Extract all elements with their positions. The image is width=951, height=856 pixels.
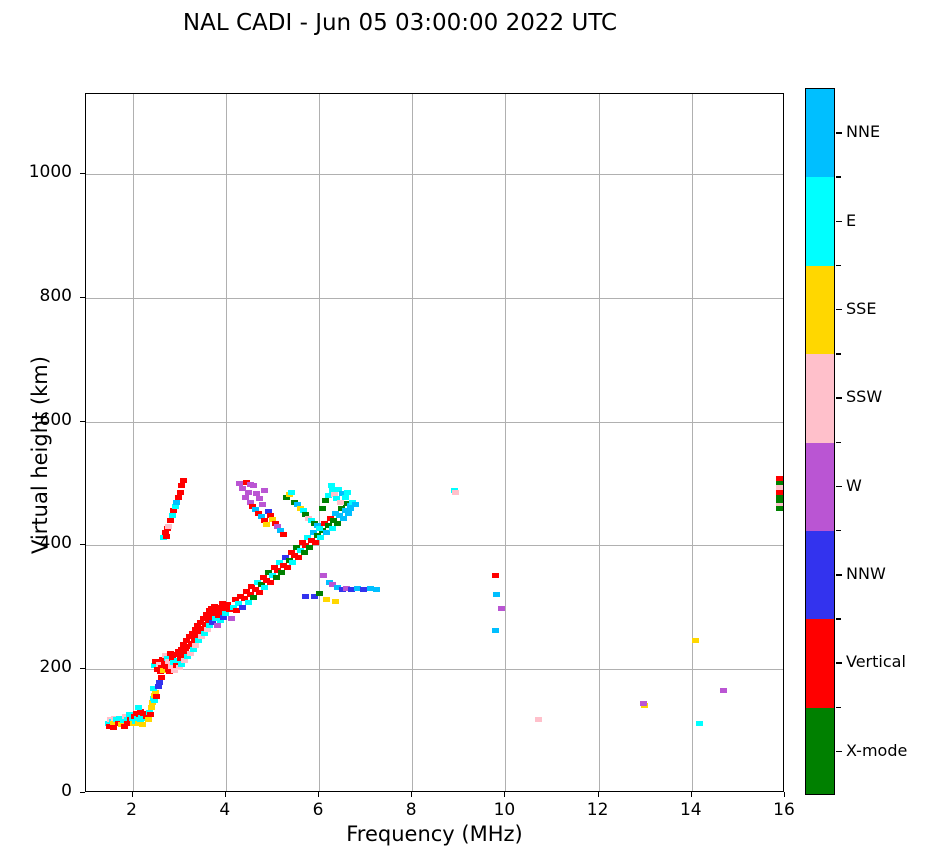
colorbar-separator-tick [836,442,841,444]
data-point [352,502,359,507]
data-point [288,490,295,495]
y-tick [80,668,85,669]
gridline-vertical [226,94,227,791]
y-tick-label: 200 [0,657,72,677]
data-point [267,580,274,585]
data-point [342,495,349,500]
data-point [261,585,268,590]
data-point [284,565,291,570]
data-point [156,680,163,685]
colorbar-tick [836,574,842,576]
colorbar-tick [836,751,842,753]
y-tick [80,173,85,174]
data-point [263,522,270,527]
data-point [320,573,327,578]
data-point [322,498,329,503]
colorbar-segment-nnw [806,531,834,619]
data-point [492,573,499,578]
gridline-horizontal [86,174,783,175]
gridline-vertical [319,94,320,791]
x-tick-label: 6 [288,800,348,820]
colorbar-label-vertical: Vertical [846,652,906,671]
colorbar-tick [836,397,842,399]
data-point [289,560,296,565]
colorbar-segment-e [806,177,834,265]
data-point [696,721,703,726]
data-point [319,506,326,511]
data-point [344,490,351,495]
x-tick [691,792,692,797]
data-point [323,597,330,602]
x-tick-label: 8 [381,800,441,820]
data-point [306,545,313,550]
x-tick-label: 2 [102,800,162,820]
data-point [312,540,319,545]
gridline-horizontal [86,298,783,299]
gridline-vertical [599,94,600,791]
data-point [692,638,699,643]
data-point [167,518,174,523]
colorbar-segment-x-mode [806,708,834,795]
data-point [640,701,647,706]
data-point [261,488,268,493]
x-tick [504,792,505,797]
colorbar-tick [836,486,842,488]
colorbar-tick [836,662,842,664]
colorbar-tick [836,221,842,223]
colorbar-segment-ssw [806,354,834,442]
x-tick-label: 16 [754,800,814,820]
colorbar-segment-sse [806,266,834,354]
data-point [334,521,341,526]
data-point [158,675,165,680]
x-tick-label: 12 [568,800,628,820]
data-point [259,502,266,507]
data-point [147,712,154,717]
data-point [169,513,176,518]
data-point [373,587,380,592]
data-point [273,575,280,580]
data-point [110,725,117,730]
x-axis-label: Frequency (MHz) [85,822,784,846]
data-point [316,591,323,596]
data-point [239,605,246,610]
y-tick [80,421,85,422]
data-point [256,590,263,595]
data-point [498,606,505,611]
data-point [148,705,155,710]
data-point [178,483,185,488]
data-point [493,592,500,597]
data-point [323,530,330,535]
page-title: NAL CADI - Jun 05 03:00:00 2022 UTC [0,10,800,36]
gridline-horizontal [86,545,783,546]
colorbar [805,88,835,795]
colorbar-separator-tick [836,265,841,267]
colorbar-label-e: E [846,211,856,230]
data-point [153,694,160,699]
data-point [720,688,727,693]
data-point [228,616,235,621]
colorbar-separator-tick [836,618,841,620]
data-point [256,496,263,501]
ionogram-figure: NAL CADI - Jun 05 03:00:00 2022 UTC 2468… [0,0,951,856]
data-point [135,705,142,710]
x-tick [225,792,226,797]
x-tick-label: 10 [474,800,534,820]
data-point [295,555,302,560]
data-point [301,550,308,555]
y-axis-label: Virtual height (km) [28,285,52,625]
data-point [172,504,179,509]
colorbar-label-sse: SSE [846,299,876,318]
colorbar-label-nnw: NNW [846,564,886,583]
gridline-vertical [412,94,413,791]
y-tick [80,297,85,298]
data-point [776,506,783,511]
colorbar-segment-vertical [806,619,834,707]
data-point [180,478,187,483]
data-point [492,628,499,633]
data-point [278,570,285,575]
data-point [173,500,180,505]
plot-area [85,93,784,792]
colorbar-label-x-mode: X-mode [846,741,907,760]
gridline-horizontal [86,669,783,670]
colorbar-separator-tick [836,707,841,709]
x-tick-label: 4 [195,800,255,820]
data-point [247,482,254,487]
data-point [329,526,336,531]
data-point [280,532,287,537]
data-point [337,500,344,505]
colorbar-label-nne: NNE [846,122,880,141]
colorbar-segment-w [806,443,834,531]
y-tick [80,544,85,545]
gridline-horizontal [86,422,783,423]
x-tick [784,792,785,797]
x-tick-label: 14 [661,800,721,820]
colorbar-separator-tick [836,530,841,532]
colorbar-label-w: W [846,476,862,495]
gridline-vertical [505,94,506,791]
data-point [302,594,309,599]
x-tick [598,792,599,797]
data-point [340,516,347,521]
data-point [145,717,152,722]
colorbar-segment-nne [806,89,834,177]
data-point [139,722,146,727]
gridline-vertical [692,94,693,791]
y-tick-label: 0 [0,781,72,801]
data-point [332,599,339,604]
data-point [175,495,182,500]
data-point [165,524,172,529]
colorbar-separator-tick [836,176,841,178]
data-point [535,717,542,722]
data-point [316,526,323,531]
data-point [345,511,352,516]
y-tick-label: 1000 [0,162,72,182]
x-tick [411,792,412,797]
colorbar-separator-tick [836,353,841,355]
colorbar-tick [836,309,842,311]
colorbar-tick [836,132,842,134]
x-tick [132,792,133,797]
data-point [317,535,324,540]
data-point [250,595,257,600]
data-point [245,490,252,495]
y-tick [80,792,85,793]
data-point [163,534,170,539]
colorbar-label-ssw: SSW [846,387,882,406]
data-point [192,643,199,648]
data-point [245,600,252,605]
data-point [214,623,221,628]
gridline-vertical [133,94,134,791]
data-point [452,490,459,495]
x-tick [318,792,319,797]
data-point [177,490,184,495]
